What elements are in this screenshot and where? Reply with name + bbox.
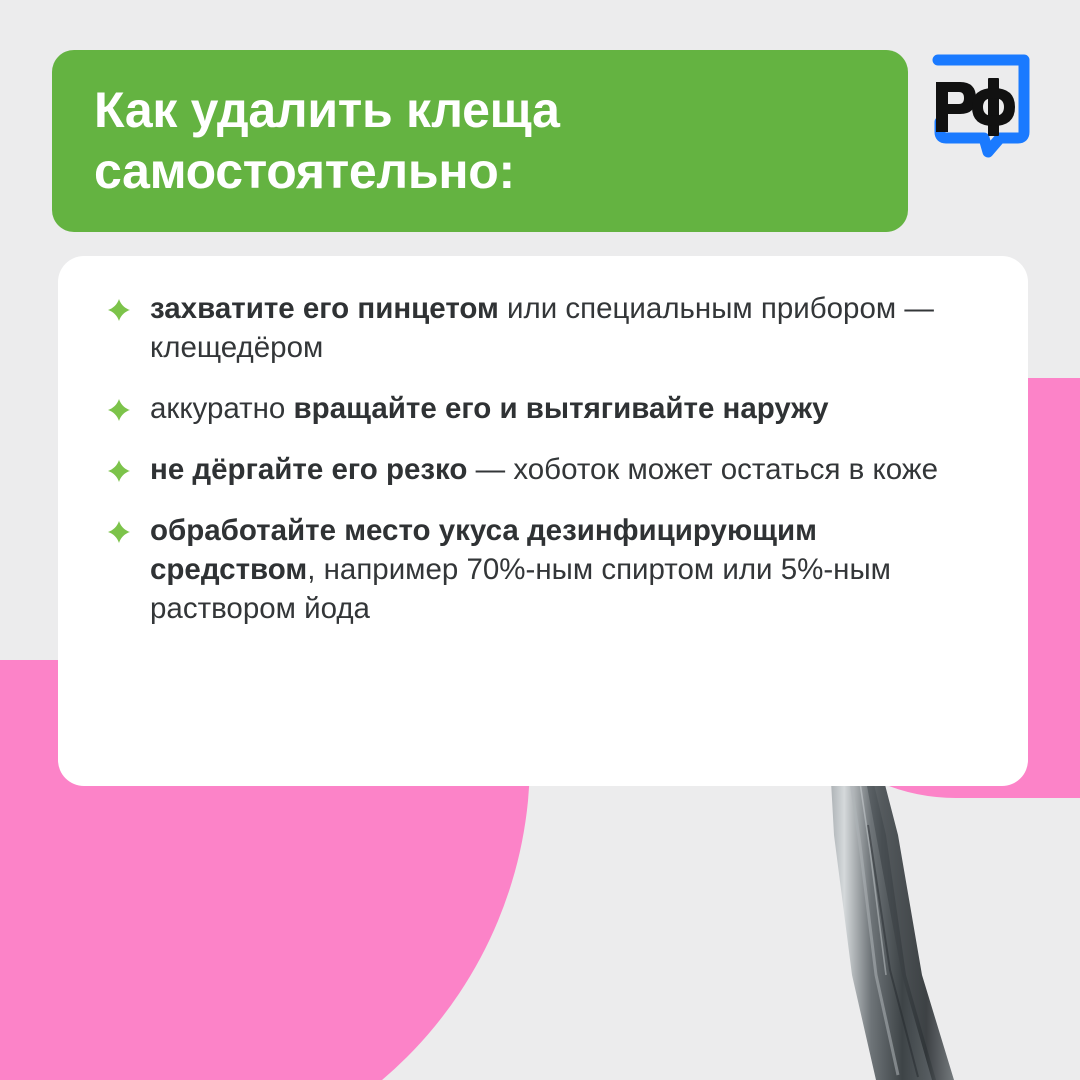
list-item: обработайте место укуса дезинфицирующим … bbox=[106, 512, 966, 629]
page-title: Как удалить клеща самостоятельно: bbox=[94, 80, 560, 202]
diamond-bullet-icon bbox=[108, 460, 130, 482]
diamond-bullet-icon bbox=[108, 399, 130, 421]
list-item: захватите его пинцетом или специальным п… bbox=[106, 290, 966, 368]
list-item-bold-3: не дёргайте его резко bbox=[150, 453, 467, 486]
list-item-lead-2: аккуратно bbox=[150, 392, 294, 425]
instructions-list: захватите его пинцетом или специальным п… bbox=[106, 290, 966, 629]
list-item-bold-2: вращайте его и вытягивайте наружу bbox=[294, 392, 829, 425]
list-item: не дёргайте его резко — хоботок может ос… bbox=[106, 451, 966, 490]
list-item: аккуратно вращайте его и вытягивайте нар… bbox=[106, 390, 966, 429]
instructions-card: захватите его пинцетом или специальным п… bbox=[58, 256, 1028, 786]
poster-root: Как удалить клеща самостоятельно: захват… bbox=[0, 0, 1080, 1080]
diamond-bullet-icon bbox=[108, 299, 130, 321]
rf-speech-bubble-logo bbox=[926, 46, 1040, 160]
list-item-bold-1: захватите его пинцетом bbox=[150, 292, 499, 325]
list-item-rest-3: — хоботок может остаться в коже bbox=[467, 453, 938, 486]
diamond-bullet-icon bbox=[108, 521, 130, 543]
header-banner: Как удалить клеща самостоятельно: bbox=[52, 50, 908, 232]
